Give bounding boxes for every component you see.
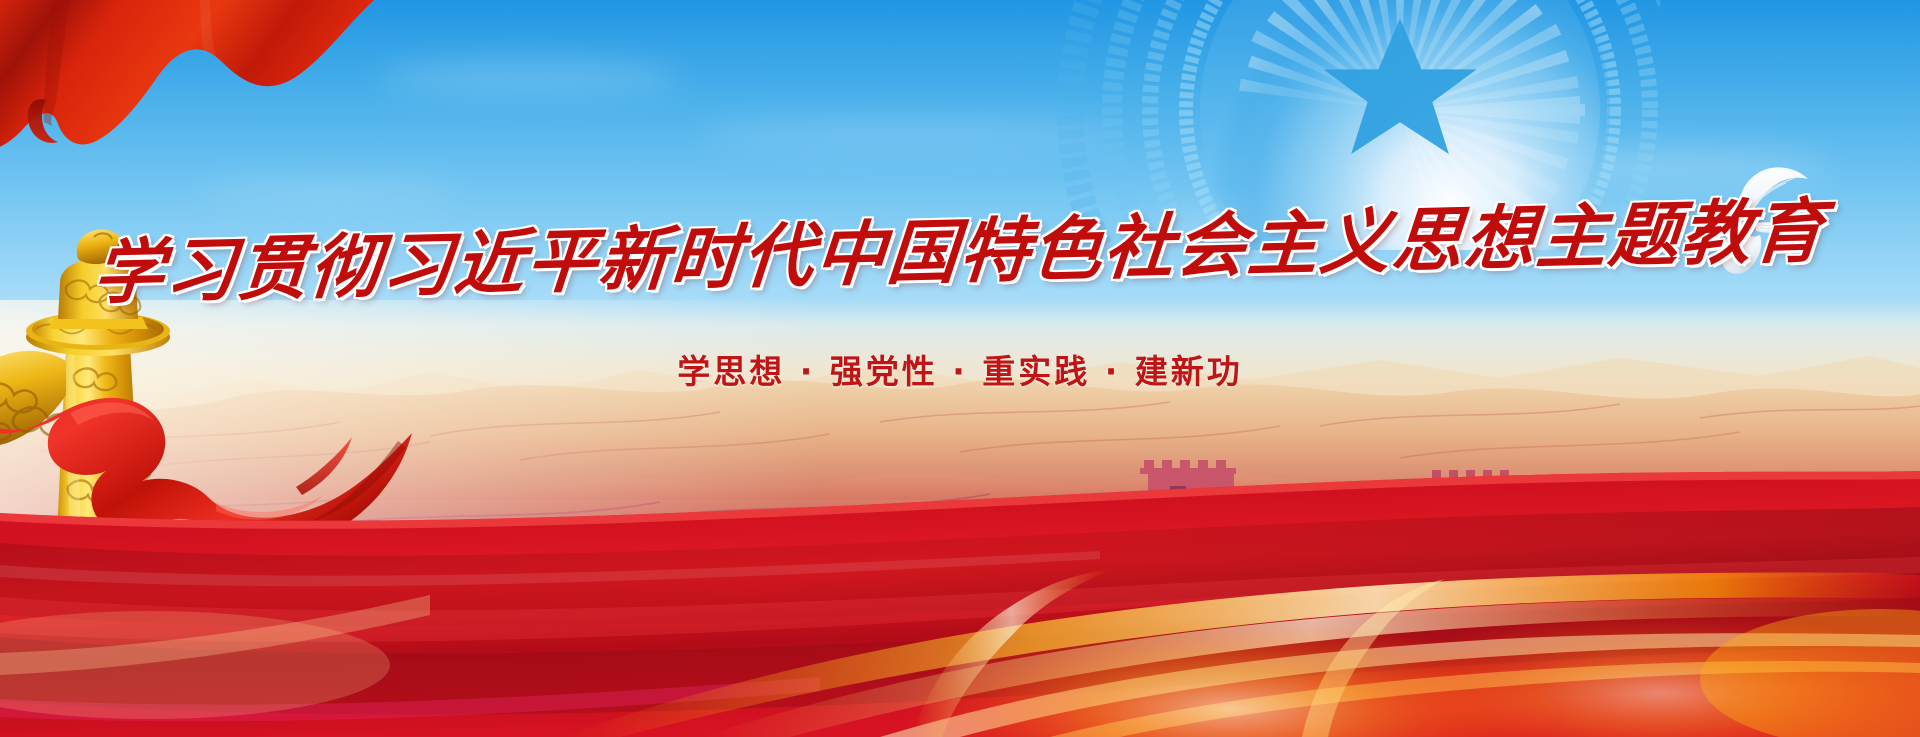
main-title-container: 学习贯彻习近平新时代中国特色社会主义思想主题教育 bbox=[0, 196, 1920, 297]
sub-title-container: 学思想 · 强党性 · 重实践 · 建新功 bbox=[0, 345, 1920, 393]
page-subtitle: 学思想 · 强党性 · 重实践 · 建新功 bbox=[677, 345, 1243, 393]
cloud-wisp bbox=[380, 60, 680, 94]
page-title: 学习贯彻习近平新时代中国特色社会主义思想主题教育 bbox=[90, 175, 1830, 318]
red-satin-light-streaks bbox=[0, 447, 1920, 737]
cloud-wisp bbox=[700, 120, 1120, 150]
propaganda-banner: 学习贯彻习近平新时代中国特色社会主义思想主题教育 学思想 · 强党性 · 重实践… bbox=[0, 0, 1920, 737]
red-waving-flag bbox=[0, 0, 380, 170]
